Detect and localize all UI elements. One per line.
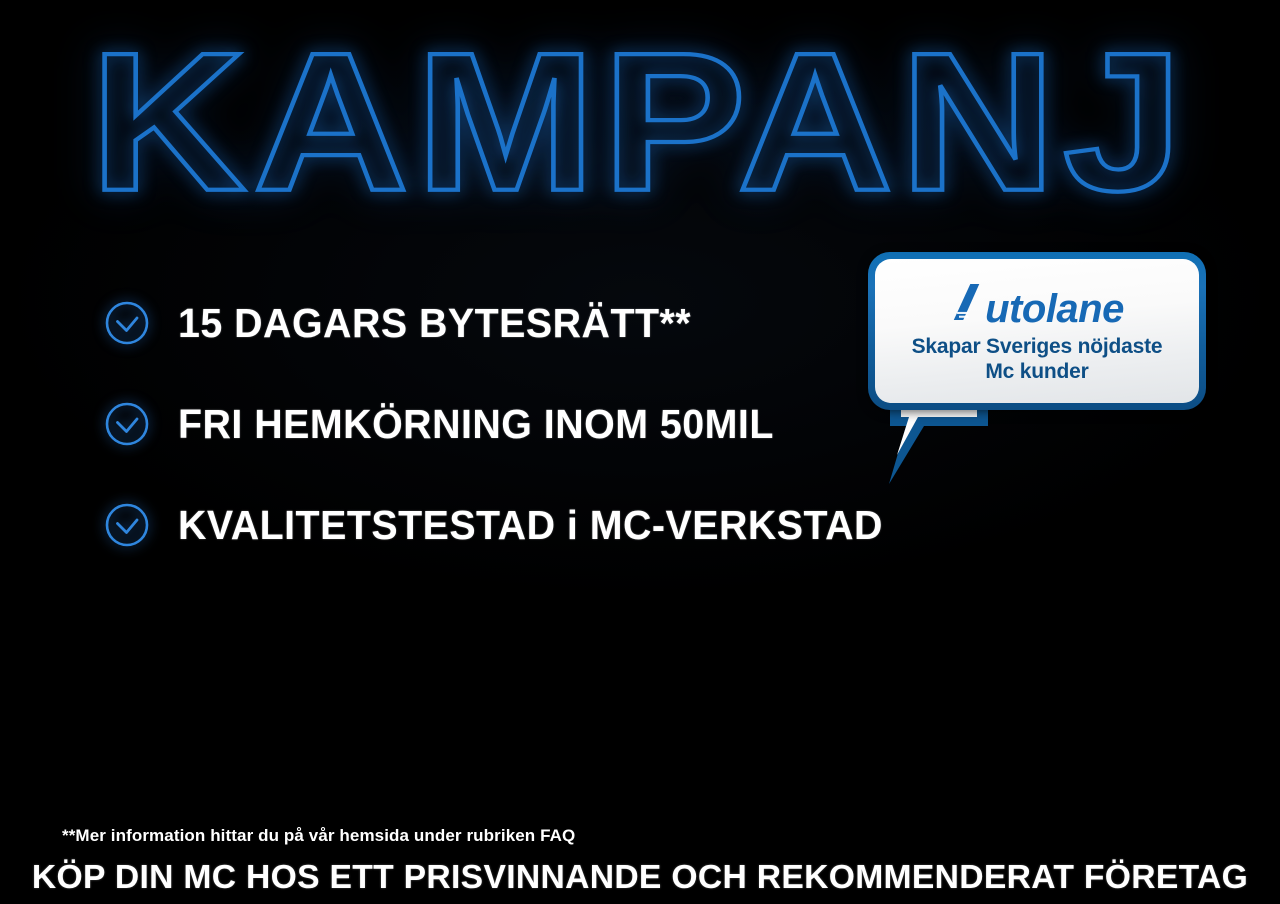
list-item-label: FRI HEMKÖRNING INOM 50MIL bbox=[178, 401, 774, 448]
autolane-a-icon bbox=[950, 282, 984, 327]
autolane-wordmark: utolane bbox=[985, 290, 1124, 328]
check-circle-icon bbox=[104, 502, 150, 548]
speech-bubble-body: utolane Skapar Sveriges nöjdaste Mc kund… bbox=[868, 252, 1206, 410]
footnote-text: **Mer information hittar du på vår hemsi… bbox=[62, 826, 575, 846]
footer-tagline: KÖP DIN MC HOS ETT PRISVINNANDE OCH REKO… bbox=[0, 858, 1280, 896]
list-item: FRI HEMKÖRNING INOM 50MIL bbox=[104, 397, 904, 451]
benefits-list: 15 DAGARS BYTESRÄTT** FRI HEMKÖRNING INO… bbox=[104, 296, 904, 599]
award-badges: REKOMMENDERAT 6 ÅR I RAD reco bbox=[0, 596, 1280, 818]
page-title: KAMPANJ bbox=[90, 24, 1190, 221]
campaign-banner: KAMPANJ 15 DAGARS BYTESRÄTT** FRI HEMKÖR… bbox=[0, 0, 1280, 904]
speech-bubble-content: utolane Skapar Sveriges nöjdaste Mc kund… bbox=[875, 259, 1199, 403]
list-item-label: 15 DAGARS BYTESRÄTT** bbox=[178, 300, 691, 347]
bubble-tagline-line2: Mc kunder bbox=[985, 359, 1088, 384]
bubble-tagline-line1: Skapar Sveriges nöjdaste bbox=[912, 334, 1163, 359]
list-item-label: KVALITETSTESTAD i MC-VERKSTAD bbox=[178, 502, 883, 549]
speech-bubble-tail bbox=[884, 400, 1014, 490]
autolane-speech-bubble: utolane Skapar Sveriges nöjdaste Mc kund… bbox=[868, 252, 1206, 410]
check-circle-icon bbox=[104, 300, 150, 346]
check-circle-icon bbox=[104, 401, 150, 447]
list-item: KVALITETSTESTAD i MC-VERKSTAD bbox=[104, 498, 904, 552]
page-title-container: KAMPANJ bbox=[0, 28, 1280, 218]
autolane-logo: utolane bbox=[950, 282, 1124, 328]
list-item: 15 DAGARS BYTESRÄTT** bbox=[104, 296, 904, 350]
